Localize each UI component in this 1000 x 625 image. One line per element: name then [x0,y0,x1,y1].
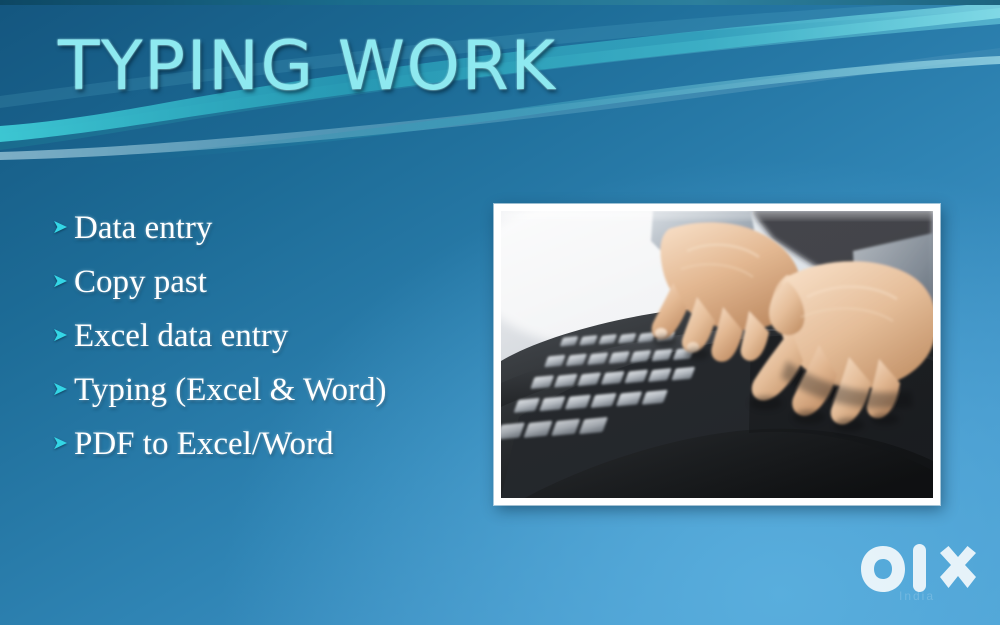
list-item-label: Excel data entry [74,320,482,353]
list-item: ➤ PDF to Excel/Word [52,428,482,482]
arrow-bullet-icon: ➤ [52,272,74,291]
olx-sublabel: India [858,589,976,603]
olx-watermark: India [858,542,976,603]
arrow-bullet-icon: ➤ [52,434,74,453]
list-item: ➤ Data entry [52,212,482,266]
keyboard-photo-frame [494,204,940,505]
list-item: ➤ Copy past [52,266,482,320]
arrow-bullet-icon: ➤ [52,218,74,237]
list-item-label: Copy past [74,266,482,299]
list-item-label: Typing (Excel & Word) [74,374,482,407]
top-edge-strip [0,0,1000,5]
list-item-label: PDF to Excel/Word [74,428,482,461]
list-item: ➤ Typing (Excel & Word) [52,374,482,428]
list-item: ➤ Excel data entry [52,320,482,374]
list-item-label: Data entry [74,212,482,245]
bullet-list: ➤ Data entry ➤ Copy past ➤ Excel data en… [52,212,482,482]
arrow-bullet-icon: ➤ [52,326,74,345]
slide-canvas: TYPING WORK ➤ Data entry ➤ Copy past ➤ E… [0,0,1000,625]
keyboard-photo [501,211,933,498]
arrow-bullet-icon: ➤ [52,380,74,399]
page-title: TYPING WORK [58,33,556,101]
